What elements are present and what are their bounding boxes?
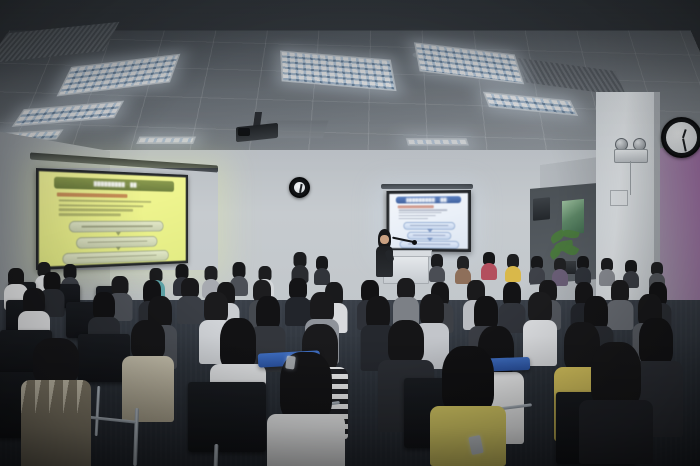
projection-screen-right[interactable]: █████████ · ██ · [386, 190, 471, 252]
slide-body-line [59, 204, 143, 207]
lecture-hall-photo: █████████ · ██ · █████████ · ██ · [0, 0, 700, 466]
slide-content-left: █████████ · ██ · [39, 171, 186, 267]
seat-leg [214, 444, 219, 466]
slide-body-line [59, 209, 134, 212]
screen-roller-casing [381, 184, 473, 189]
smartphone-icon[interactable] [285, 355, 296, 369]
projector-icon [236, 112, 278, 142]
slide-heading-line [57, 193, 127, 198]
slide-body-line [59, 213, 121, 216]
wall-clock-icon [661, 117, 700, 158]
slide-flow-arrow-icon [116, 232, 121, 236]
slide-body-line [398, 212, 441, 214]
slide-body-line [398, 209, 447, 211]
slide-title-banner: █████████ · ██ · [396, 196, 461, 204]
slide-title-banner: █████████ · ██ · [54, 176, 174, 192]
projection-screen-left[interactable]: █████████ · ██ · [36, 168, 188, 270]
light-panel [406, 138, 469, 145]
microphone-icon [412, 240, 417, 245]
slide-body-line [59, 199, 152, 203]
lecture-seat[interactable] [188, 382, 266, 452]
light-panel [136, 137, 196, 144]
slide-flow-arrow-icon [116, 246, 121, 250]
wall-clock-icon [289, 177, 310, 198]
emergency-light-icon [614, 138, 648, 162]
slide-body-line [398, 215, 435, 217]
loudspeaker-icon [533, 197, 550, 221]
slide-heading-line [398, 206, 434, 208]
wall-switch-plate [610, 190, 628, 206]
slide-title-text: █████████ · ██ · [406, 197, 451, 202]
slide-title-text: █████████ · ██ · [94, 181, 141, 188]
slide-body-line [398, 218, 428, 219]
